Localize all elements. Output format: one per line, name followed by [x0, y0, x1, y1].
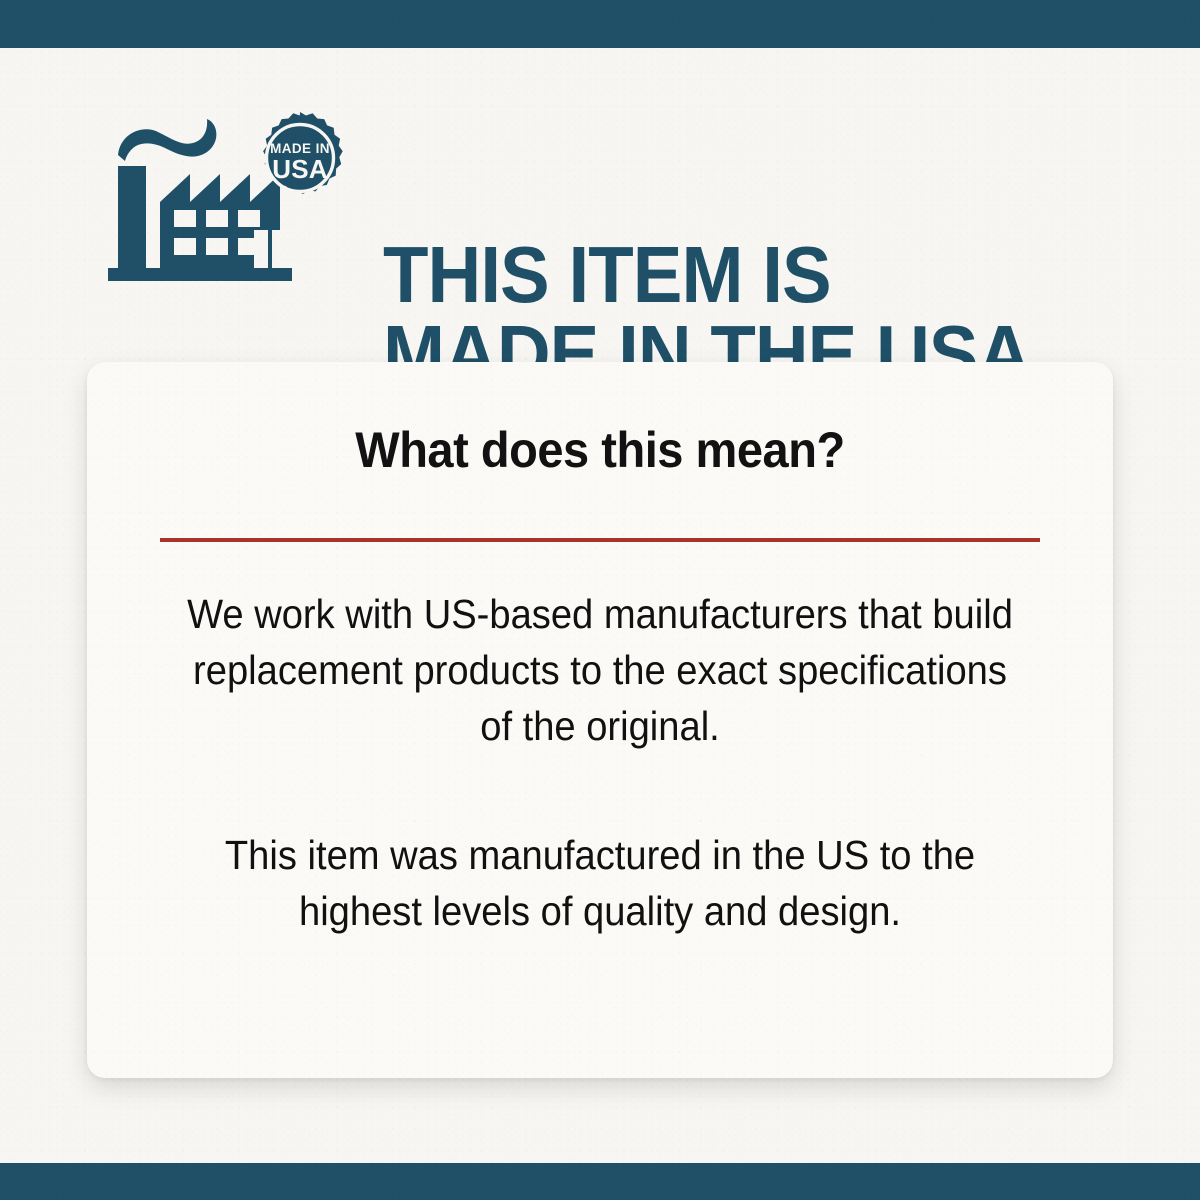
card-paragraph-2: This item was manufactured in the US to …	[182, 828, 1019, 940]
page-title-line-1: THIS ITEM IS	[383, 230, 831, 319]
top-accent-bar	[0, 0, 1200, 48]
factory-made-in-usa-logo: MADE IN USA	[104, 110, 344, 288]
card-body: We work with US-based manufacturers that…	[182, 587, 1019, 940]
explanation-card: What does this mean? We work with US-bas…	[87, 362, 1113, 1078]
card-paragraph-1: We work with US-based manufacturers that…	[182, 587, 1019, 754]
card-heading: What does this mean?	[118, 425, 1082, 475]
header-banner: MADE IN USA THIS ITEM IS MADE IN THE USA	[0, 48, 1200, 354]
card-divider	[160, 538, 1040, 542]
badge-line-2: USA	[272, 154, 328, 184]
bottom-accent-bar	[0, 1163, 1200, 1200]
